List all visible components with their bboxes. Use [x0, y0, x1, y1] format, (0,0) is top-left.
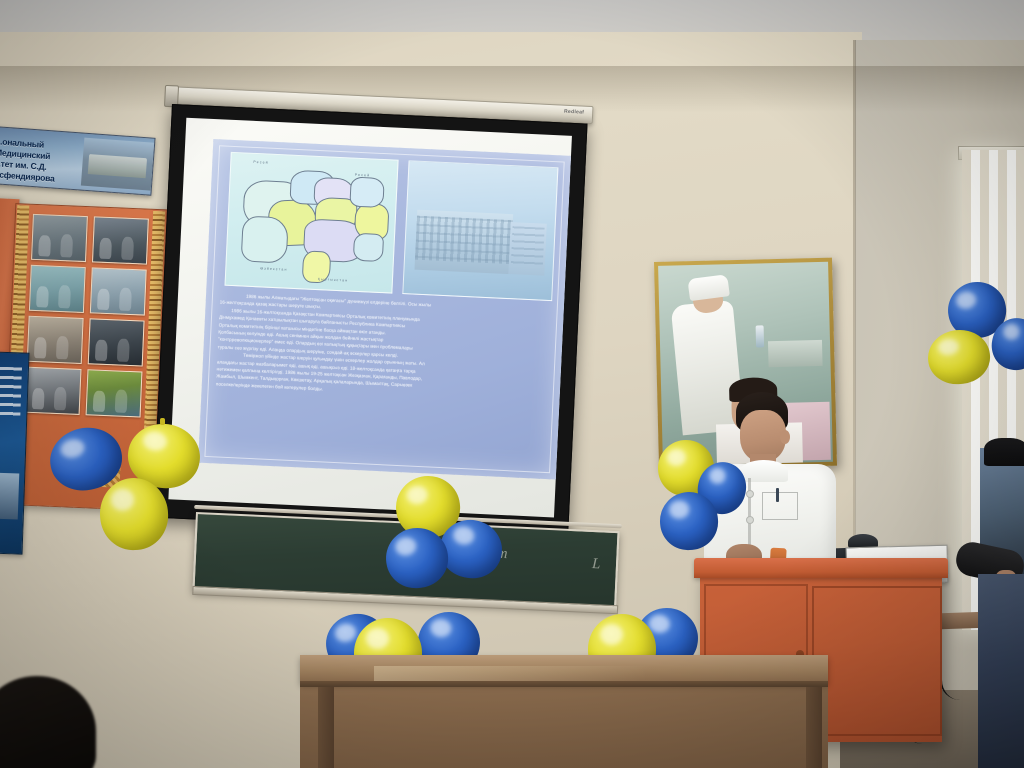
table-leg — [806, 687, 822, 768]
national-medical-university-banner: ...ональный Медицинский ...тет им. С.Д. … — [0, 126, 156, 196]
map-region — [241, 215, 289, 263]
presenter-pen — [776, 488, 779, 502]
podium-top-surface — [694, 558, 948, 578]
board-photo-grid — [25, 214, 149, 418]
chalk-mark: L — [592, 556, 601, 573]
board-photo — [92, 216, 149, 264]
screen-brand-label: Redleaf — [564, 109, 584, 116]
building-main-block — [414, 210, 513, 274]
government-building-photo — [402, 160, 558, 301]
board-photo — [29, 265, 86, 313]
presenter-ear — [780, 430, 790, 444]
power-cable — [940, 596, 960, 700]
table-leg — [318, 687, 334, 768]
board-photo — [88, 318, 145, 366]
foreground-person-legs — [978, 574, 1024, 768]
slide-body-text: 1986 жылы Алматыдағы "Желтоқсан оқиғасы"… — [216, 291, 550, 403]
map-label-neighbor-northeast: Ресей — [355, 173, 371, 178]
presenter-chest-pocket — [762, 492, 798, 520]
presenter-coat-button — [746, 490, 754, 498]
foreground-person-right — [962, 448, 1024, 768]
presenter-coat-button — [746, 516, 754, 524]
map-label-neighbor-south: Өзбекстан — [260, 266, 287, 271]
map-label-neighbor-north: Ресей — [253, 160, 269, 165]
table-top-surface — [300, 655, 828, 683]
board-photo — [25, 367, 82, 415]
roll-down-projection-screen: Ресей Ресей Өзбекстан Қырғызстан 1986 жы… — [152, 104, 587, 537]
kazakhstan-administrative-map: Ресей Ресей Өзбекстан Қырғызстан — [225, 152, 399, 294]
presentation-slide: Ресей Ресей Өзбекстан Қырғызстан 1986 жы… — [198, 139, 571, 480]
board-photo — [27, 316, 84, 364]
photo-doctor-cap — [687, 274, 730, 301]
building-wing — [508, 222, 546, 276]
foreground-person-shoulder — [984, 438, 1024, 466]
photo-shelf — [768, 340, 823, 367]
banner-text: ...ональный Медицинский ...тет им. С.Д. … — [0, 136, 100, 187]
lecture-hall-photo: ...ональный Медицинский ...тет им. С.Д. … — [0, 0, 1024, 768]
photo-bottle — [756, 325, 765, 347]
map-region — [349, 177, 384, 209]
board-photo — [90, 267, 147, 315]
balloon-knot — [160, 418, 165, 425]
table-edge — [300, 681, 828, 687]
screen-surface: Ресей Ресей Өзбекстан Қырғызстан 1986 жы… — [168, 118, 572, 518]
board-photo — [31, 214, 88, 262]
poster-image — [0, 472, 19, 519]
poster-text-lines — [0, 366, 22, 419]
podium-front-panel — [812, 586, 942, 736]
board-photo — [86, 369, 143, 417]
map-region — [353, 233, 384, 262]
